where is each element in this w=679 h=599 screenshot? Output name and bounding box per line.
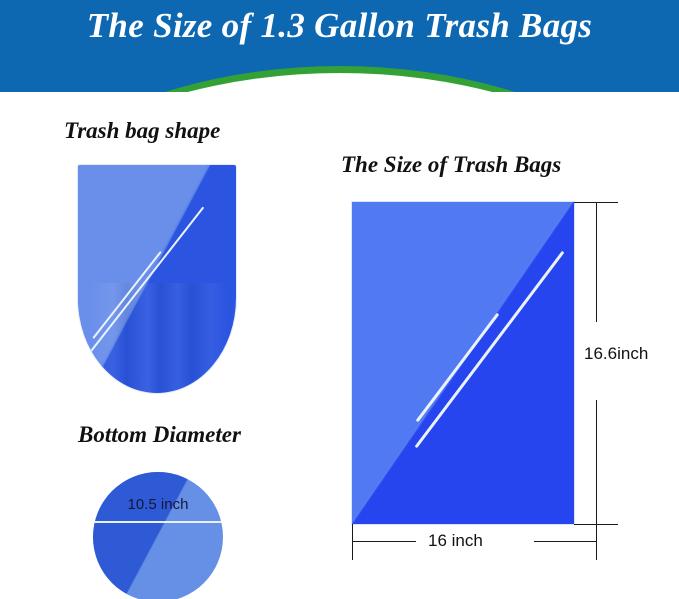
circle-dark-wedge [93, 472, 223, 599]
height-dimension-cap-bottom [576, 524, 618, 525]
banner-green-arc [0, 66, 679, 92]
bottom-diameter-illustration: 10.5 inch [93, 472, 223, 599]
width-dimension-value: 16 inch [424, 531, 487, 551]
page-title: The Size of 1.3 Gallon Trash Bags [0, 6, 679, 46]
height-dimension-cap-top [576, 202, 618, 203]
trash-bag-flat-illustration [352, 202, 574, 524]
rectangle-light-wedge [352, 202, 574, 524]
width-dimension-cap-left [352, 524, 353, 560]
bottom-diameter-label: Bottom Diameter [78, 422, 241, 448]
height-dimension-value: 16.6inch [580, 344, 652, 364]
header-banner: The Size of 1.3 Gallon Trash Bags [0, 0, 679, 92]
trash-bag-shape-illustration [78, 165, 236, 393]
circle-body: 10.5 inch [93, 472, 223, 599]
bag-shape-label: Trash bag shape [64, 118, 220, 144]
width-dimension-cap-right [596, 524, 597, 560]
product-size-infographic: The Size of 1.3 Gallon Trash Bags Trash … [0, 0, 679, 599]
bottom-diameter-value: 10.5 inch [93, 496, 223, 513]
circle-diameter-line [93, 521, 223, 523]
rectangle-body [352, 202, 574, 524]
trash-bag-size-label: The Size of Trash Bags [341, 152, 561, 178]
bag-body [78, 165, 236, 393]
